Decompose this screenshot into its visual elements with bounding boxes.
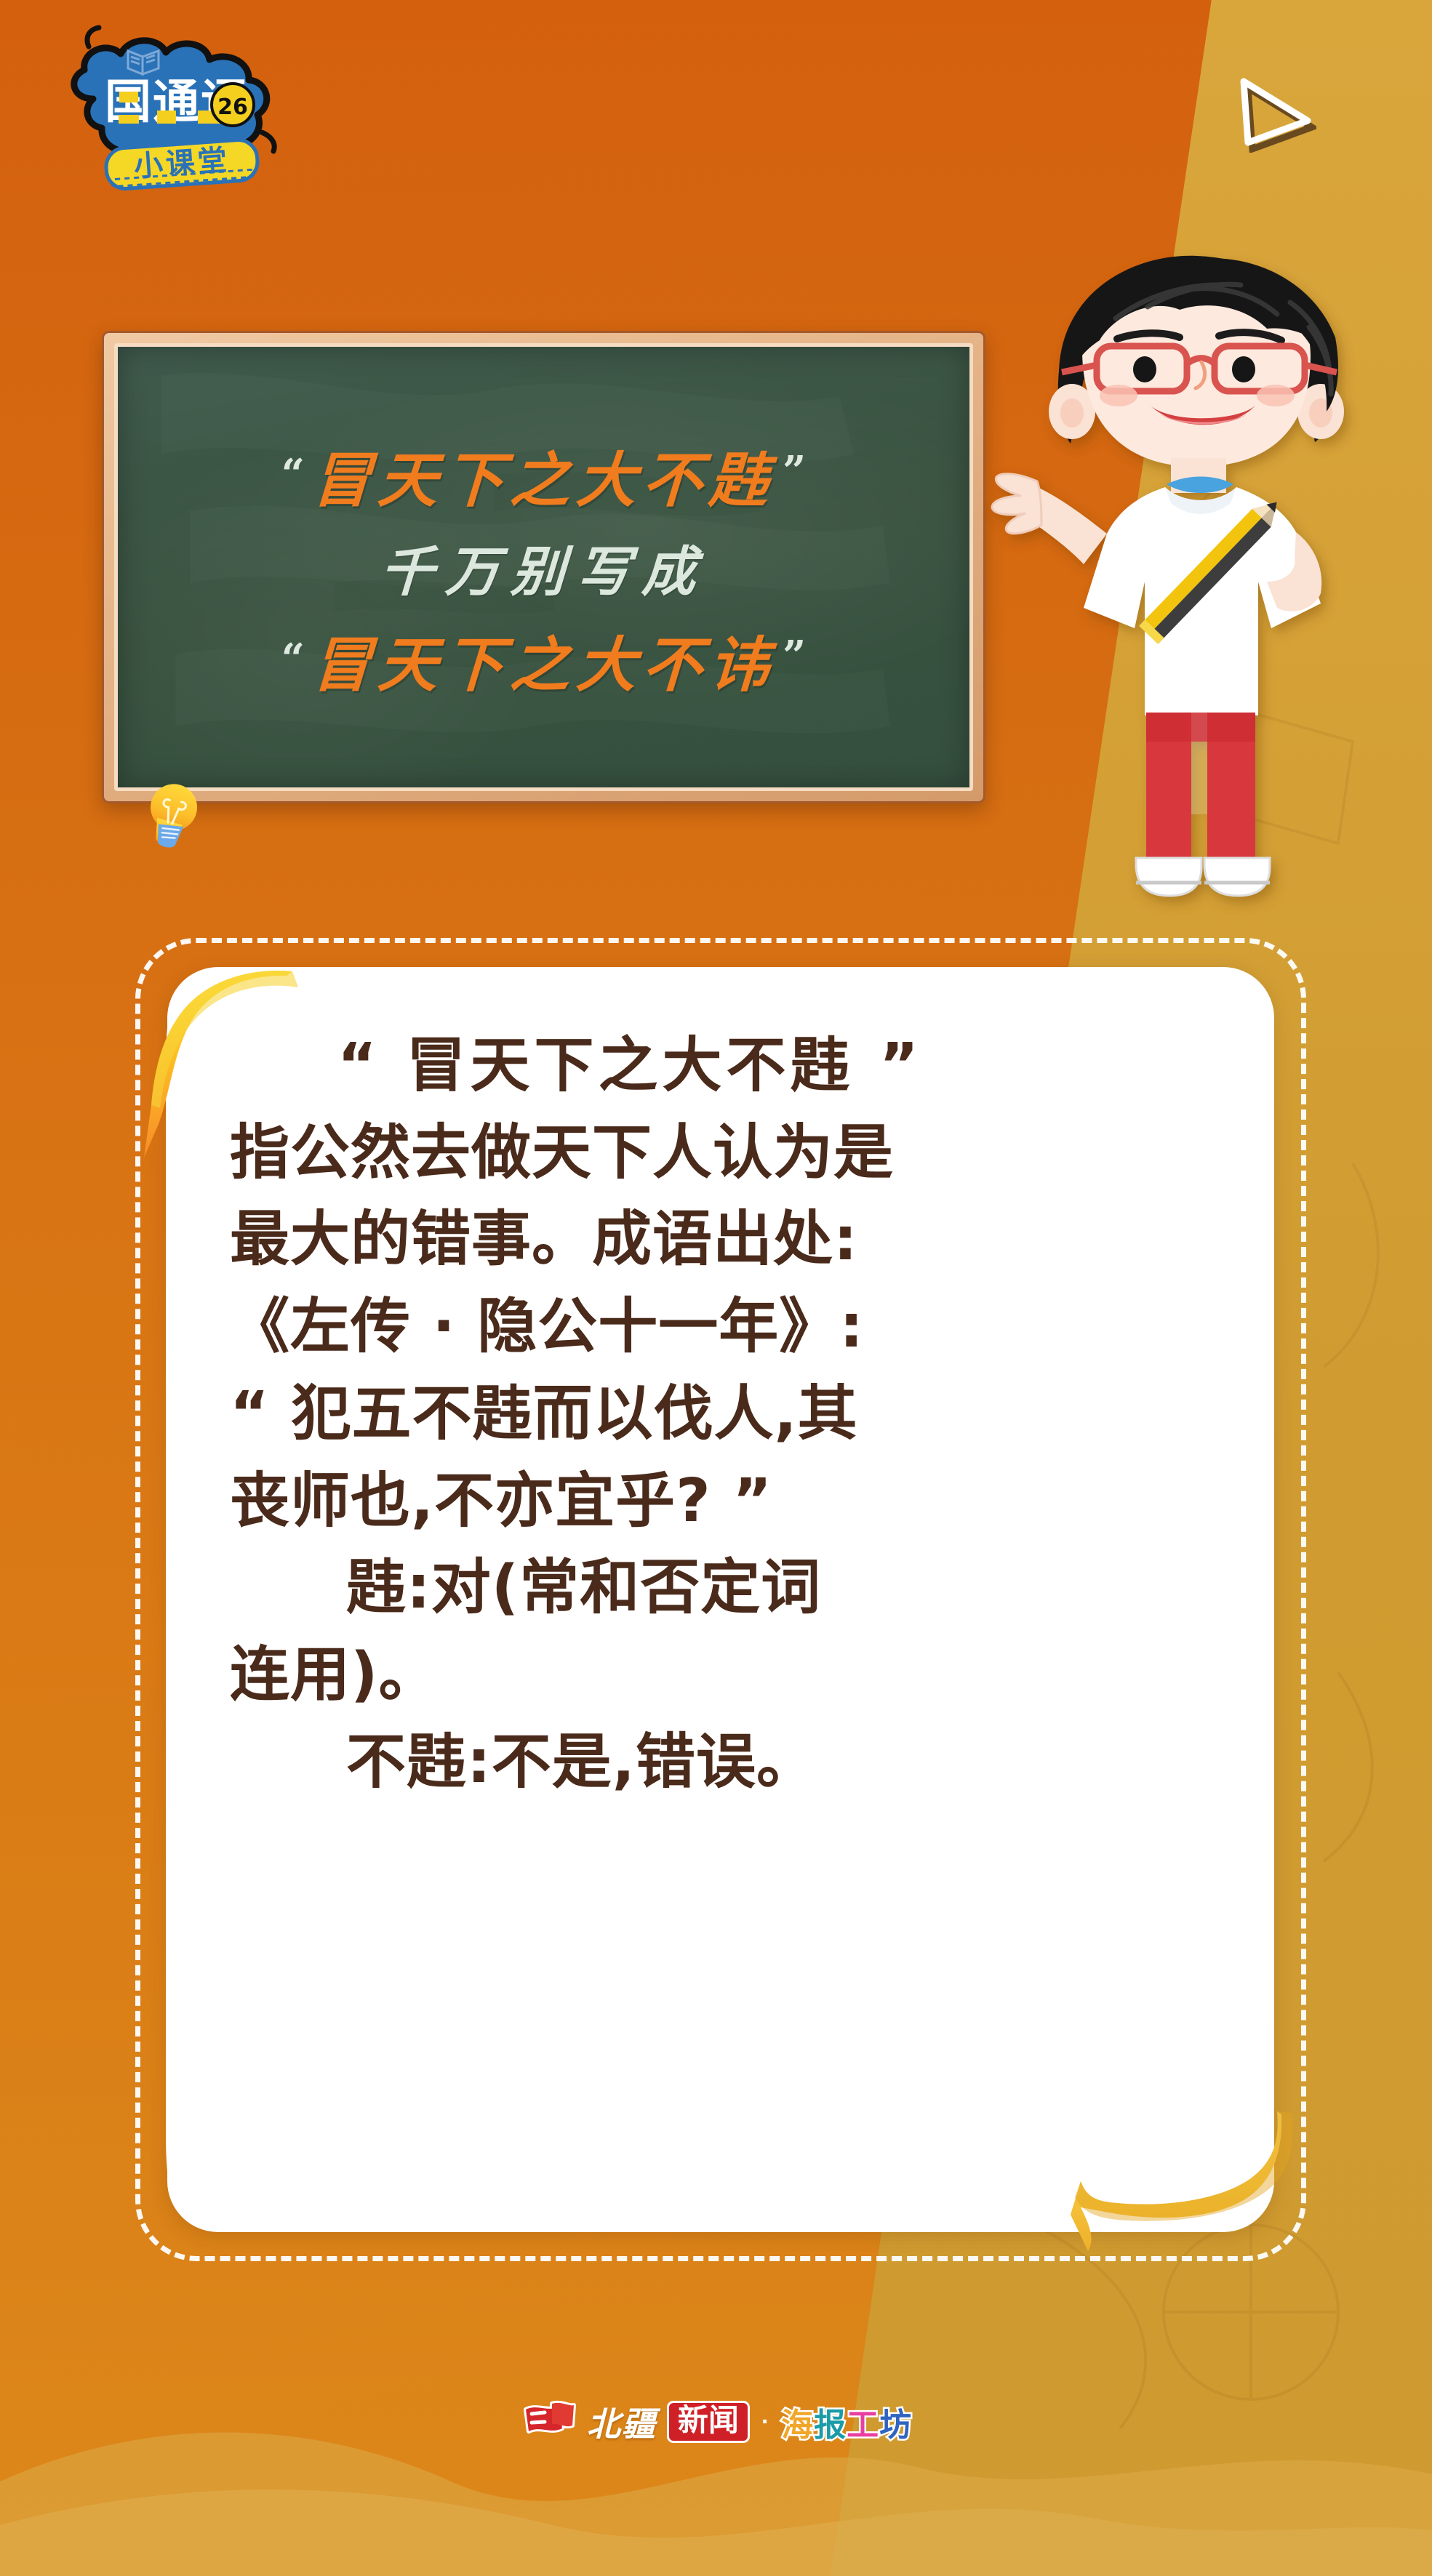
card-line-7: 韪:对(常和否定词 [230, 1544, 1216, 1632]
footer-separator: · [761, 2408, 769, 2436]
studio-char-4: 坊 [879, 2399, 912, 2445]
studio-char-1: 海 [781, 2399, 814, 2445]
blackboard-line-1: “ 冒天下之大不韪 ” [118, 432, 969, 518]
close-quote-1: ” [775, 460, 813, 484]
close-quote-2: ” [775, 644, 813, 669]
logo-episode-number: 26 [217, 95, 248, 120]
card-line-6: 丧师也,不亦宜乎? ” [230, 1458, 1216, 1545]
blackboard-subline: 千万别写成 [378, 529, 710, 606]
logo-subtitle: 小课堂 [132, 143, 231, 183]
footer-brand-name: 北疆 [587, 2398, 657, 2446]
footer-branding: 北疆 新闻 · 海报工坊 [0, 2391, 1432, 2453]
content-card: “ 冒天下之大不韪 ” 指公然去做天下人认为是 最大的错事。成语出处: 《左传 … [167, 967, 1274, 2232]
blackboard-headline: 冒天下之大不韪 [310, 432, 777, 518]
card-line-8: 连用)。 [230, 1632, 1216, 1719]
card-body-text: “ 冒天下之大不韪 ” 指公然去做天下人认为是 最大的错事。成语出处: 《左传 … [230, 1022, 1216, 1805]
footer-news-badge: 新闻 [667, 2401, 750, 2443]
blackboard-line-3: “ 冒天下之大不讳 ” [118, 617, 969, 703]
play-triangle-icon [1229, 73, 1316, 153]
background-hills [0, 2336, 1432, 2576]
studio-char-2: 报 [814, 2399, 847, 2445]
blackboard-surface: “ 冒天下之大不韪 ” 千万别写成 “ 冒天下之大不讳 ” [114, 343, 973, 791]
content-card-wrapper: “ 冒天下之大不韪 ” 指公然去做天下人认为是 最大的错事。成语出处: 《左传 … [135, 938, 1306, 2261]
card-line-5: “ 犯五不韪而以伐人,其 [230, 1371, 1216, 1458]
blackboard-line-2: 千万别写成 [118, 518, 969, 617]
red-flag-logo-icon [520, 2399, 577, 2444]
boy-student-illustration [996, 240, 1389, 923]
brand-logo-badge: 国通语 26 小课堂 [44, 29, 349, 189]
card-line-3: 最大的错事。成语出处: [230, 1196, 1216, 1283]
open-quote-1: “ [274, 462, 312, 487]
blackboard-wrong-form: 冒天下之大不讳 [310, 617, 777, 703]
card-line-1: “ 冒天下之大不韪 ” [230, 1022, 1216, 1110]
studio-char-3: 工 [847, 2399, 879, 2445]
card-line-4: 《左传 · 隐公十一年》: [230, 1283, 1216, 1371]
footer-studio-name: 海报工坊 [781, 2399, 912, 2445]
open-quote-2: “ [274, 647, 312, 672]
blackboard: “ 冒天下之大不韪 ” 千万别写成 “ 冒天下之大不讳 ” [102, 331, 985, 803]
card-line-2: 指公然去做天下人认为是 [230, 1110, 1216, 1197]
card-line-9: 不韪:不是,错误。 [230, 1719, 1216, 1806]
